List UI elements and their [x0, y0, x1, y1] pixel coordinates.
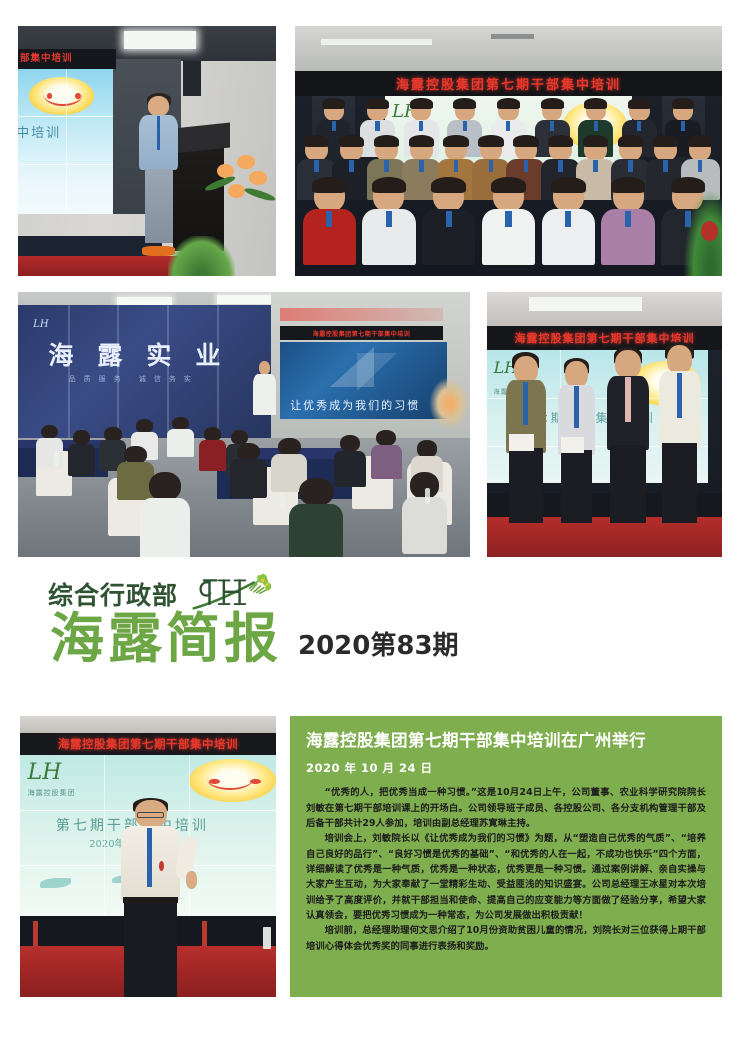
led-banner-strip: 海露控股集团第七期干部集中培训	[20, 733, 276, 755]
photo-lecturer: LH 海露控股集团 第七期干部集中培训 2020年 海露控股集团第七期干部集中培…	[20, 716, 276, 997]
group-person	[673, 101, 693, 121]
leader-person	[659, 345, 701, 520]
screen-seam	[104, 755, 105, 921]
led-banner-text: 部集中培训	[18, 49, 116, 69]
flower-arrangement	[429, 377, 470, 430]
screen-subtitle: 海露控股集团	[28, 788, 76, 798]
group-person	[586, 101, 606, 121]
attendee	[167, 417, 194, 457]
led-screen: 中培训	[18, 69, 113, 214]
group-person	[689, 139, 712, 162]
lecturer-person	[117, 800, 184, 997]
article-panel: 海露控股集团第七期干部集中培训在广州举行 2020 年 10 月 24 日 “优…	[290, 716, 722, 997]
awardee-person	[558, 361, 596, 520]
table-top	[18, 440, 108, 448]
photo-award-group: LH 海露控股集团 七期干部集中培训 海露控股集团第七期干部集中培训	[487, 292, 722, 557]
awardee-person	[506, 356, 546, 520]
group-person	[410, 139, 433, 162]
screen-caption: 中培训	[18, 122, 61, 141]
group-row-back	[295, 101, 722, 121]
potted-plant	[168, 236, 235, 276]
group-person	[613, 181, 644, 212]
cheek-right-icon	[250, 779, 260, 784]
attendee	[402, 472, 447, 552]
slide-text: 让优秀成为我们的习惯	[290, 397, 420, 413]
issue-number: 2020第83期	[298, 625, 459, 666]
group-person	[619, 139, 642, 162]
brand-row: 海露简报 2020第83期	[50, 612, 459, 666]
group-person	[314, 181, 345, 212]
water-bottle-icon	[54, 451, 59, 467]
photo-group-training: LH 海露控股集团第七期干部集中培训	[295, 26, 722, 276]
group-person	[493, 181, 524, 212]
attendee	[140, 472, 190, 557]
cheek-right-icon	[75, 93, 81, 99]
water-bottle-icon	[263, 927, 271, 949]
group-row-middle	[295, 139, 722, 162]
person-legs	[124, 899, 177, 997]
lanyard-icon	[147, 828, 152, 887]
screen-seam	[66, 69, 67, 214]
led-banner-strip: 部集中培训	[18, 49, 116, 69]
newsletter-page: 中培训 部集中培训	[0, 0, 740, 1047]
leaf-icon	[244, 186, 276, 202]
newsletter-title: 海露简报	[50, 612, 282, 666]
projection-screen: 让优秀成为我们的习惯	[280, 342, 447, 419]
person-head	[148, 96, 170, 116]
group-person	[433, 181, 464, 212]
flower-arrangement	[209, 151, 276, 216]
flower-icon	[237, 155, 254, 169]
group-person	[480, 139, 503, 162]
group-person	[542, 101, 562, 121]
flower-icon	[249, 171, 266, 185]
attendee	[371, 430, 403, 478]
article-title: 海露控股集团第七期干部集中培训在广州举行	[306, 730, 706, 751]
group-person	[324, 101, 344, 121]
ceiling-light-icon	[117, 297, 171, 305]
stage-marker	[202, 921, 207, 946]
flower-icon	[228, 184, 245, 198]
stage-marker	[33, 921, 38, 946]
photo-podium-speaker: 中培训 部集中培训	[18, 26, 276, 276]
group-person	[498, 101, 518, 121]
article-date: 2020 年 10 月 24 日	[306, 760, 706, 776]
article-paragraph: “优秀的人，把优秀当成一种习惯。”这是10月24日上午，公司董事、农业科学研究院…	[306, 785, 706, 831]
lanyard-icon	[157, 116, 160, 150]
attendee	[68, 430, 95, 475]
group-person	[375, 139, 398, 162]
group-person	[654, 139, 677, 162]
led-banner-strip: 海露控股集团第七期干部集中培训	[280, 326, 443, 339]
flower-icon	[701, 221, 718, 241]
group-person	[584, 139, 607, 162]
group-person	[373, 181, 404, 212]
attendee	[36, 425, 63, 467]
led-glow	[280, 308, 443, 321]
lh-logo-icon: LH	[28, 760, 62, 785]
leader-person	[607, 350, 649, 520]
ceiling-vent-icon	[491, 34, 534, 39]
wall-mullion	[68, 305, 70, 443]
wall-mullion	[217, 305, 219, 443]
group-person	[445, 139, 468, 162]
article-paragraph: 培训会上，刘敏院长以《让优秀成为我们的习惯》为题，从“塑造自己优秀的气质”、“培…	[306, 831, 706, 923]
ceiling-light-icon	[321, 39, 432, 45]
water-bottle-icon	[280, 493, 285, 509]
ceiling-light-icon	[529, 297, 642, 310]
group-person	[629, 101, 649, 121]
led-banner-strip: 海露控股集团第七期干部集中培训	[295, 71, 722, 96]
speaker-box-icon	[183, 61, 201, 96]
wall-brand-text: 海露实业	[48, 336, 244, 372]
article-paragraph: 培训前，总经理助理何文思介绍了10月份资助贫困儿童的情况，刘院长对三位获得上期干…	[306, 923, 706, 954]
article-body: “优秀的人，把优秀当成一种习惯。”这是10月24日上午，公司董事、农业科学研究院…	[306, 785, 706, 954]
led-banner-text: 海露控股集团第七期干部集中培训	[515, 330, 695, 346]
group-person	[549, 139, 572, 162]
led-banner-text: 海露控股集团第七期干部集中培训	[396, 74, 621, 93]
speaker-person	[139, 96, 178, 251]
masthead: 综合行政部	[0, 560, 740, 710]
led-banner-text: 海露控股集团第七期干部集中培训	[313, 329, 411, 338]
wall-brand-sub: 品质服务 诚信务实	[69, 374, 199, 384]
presenter-person	[253, 361, 276, 414]
group-person	[340, 139, 363, 162]
slide-triangle	[357, 353, 397, 391]
group-person	[515, 139, 538, 162]
bird-graphic-icon	[40, 878, 71, 888]
party-badge-icon	[159, 861, 164, 871]
group-person	[455, 101, 475, 121]
attendee	[230, 443, 266, 496]
group-row-front	[295, 181, 722, 212]
person-hand	[186, 871, 197, 889]
glasses-icon	[137, 812, 164, 818]
group-person	[411, 101, 431, 121]
cheek-left-icon	[209, 779, 219, 784]
attendee	[289, 478, 343, 558]
belt-icon	[123, 897, 179, 903]
wall-mullion	[117, 305, 119, 443]
led-banner-text: 海露控股集团第七期干部集中培训	[58, 736, 238, 752]
person-legs	[145, 169, 173, 243]
group-person	[367, 101, 387, 121]
group-person	[553, 181, 584, 212]
ceiling-light-icon	[124, 31, 196, 49]
group-person	[305, 139, 328, 162]
photo-classroom: LH 海露实业 品质服务 诚信务实 海露控股集团第七期干部集中培训 让优秀成为我…	[18, 292, 470, 557]
attendee	[199, 427, 226, 469]
lh-logo-icon: LH	[33, 319, 48, 330]
water-bottle-icon	[425, 488, 430, 504]
